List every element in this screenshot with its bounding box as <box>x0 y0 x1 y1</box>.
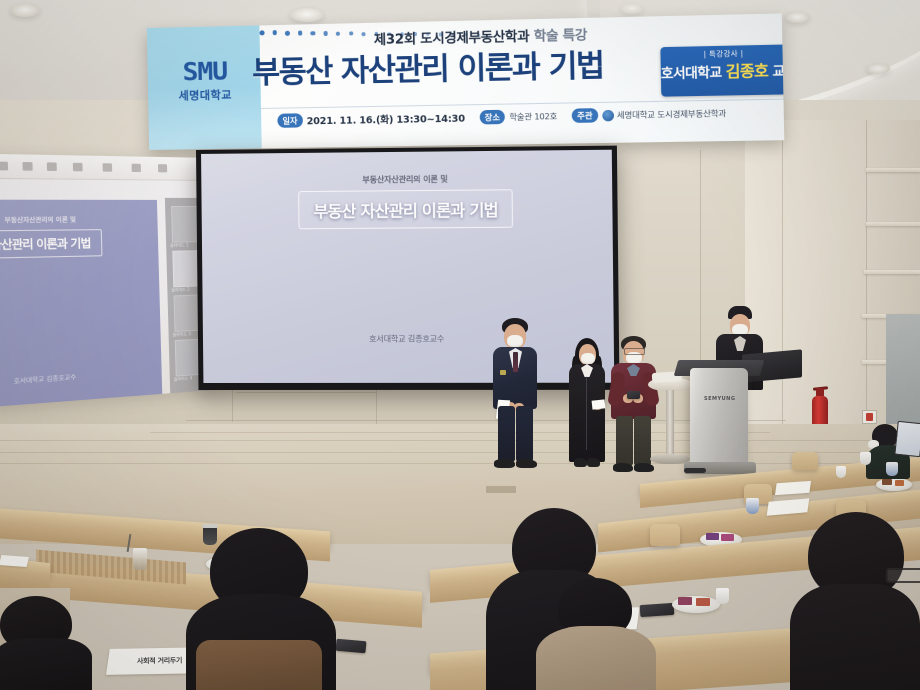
fire-sign-glyph <box>866 413 873 421</box>
presenter-slide-kicker: 부동산자산관리의 이론 및 <box>0 214 158 225</box>
slide-thumbnail-label: 슬라이드 1 <box>170 242 188 248</box>
paper-cup-blue <box>746 498 759 514</box>
tablet-device <box>894 421 920 458</box>
wall-panel-seam <box>236 392 376 393</box>
podium-cable <box>684 468 706 473</box>
iced-coffee-cup <box>133 548 147 570</box>
toolbar-icon <box>47 162 57 171</box>
ceiling-downlight <box>290 8 324 22</box>
handout-paper <box>775 481 811 495</box>
held-paper <box>592 399 606 409</box>
banner-dot <box>323 31 328 36</box>
presenter-current-slide: 부동산자산관리의 이론 및 자산관리 이론과 기법 호서대학교 김종호교수 <box>0 200 162 408</box>
slide-thumbnail-label: 슬라이드 4 <box>174 375 192 382</box>
banner-dot <box>298 31 303 36</box>
long-black-coat <box>569 364 605 462</box>
face-mask <box>507 335 523 347</box>
slide-title-box: 부동산 자산관리 이론과 기법 <box>298 189 513 229</box>
toolbar-icon <box>158 164 167 172</box>
social-distancing-sign-text: 사회적 거리두기 <box>137 656 182 667</box>
banner-dot <box>361 32 365 36</box>
event-banner: SMU 세명대학교 제32회 도시경제부동산학과 학술 특강 부동산 자산관리 … <box>147 13 784 150</box>
host-emblem-icon <box>602 109 614 121</box>
trouser-leg <box>616 416 633 466</box>
person-man-navy-suit <box>488 318 544 470</box>
audience-chair-back-foreground <box>196 640 322 690</box>
cocktail-stool <box>648 378 692 474</box>
slide-title: 부동산 자산관리 이론과 기법 <box>313 196 498 222</box>
presenter-slide-footer: 호서대학교 김종호교수 <box>0 366 162 392</box>
paper-cup <box>716 588 729 604</box>
floor-plank <box>0 463 920 464</box>
eyeglasses <box>624 348 645 355</box>
paper-cup-blue <box>886 462 898 476</box>
audience-person-front-right <box>790 512 920 690</box>
speaker-badge: | 특강강사 | 호서대학교 김종호 교수 <box>660 44 784 96</box>
shoe <box>574 458 587 467</box>
banner-logo-panel: SMU 세명대학교 <box>147 25 262 150</box>
torso-back <box>0 638 92 690</box>
smu-logo-mark: SMU <box>159 56 250 87</box>
chair-back <box>792 452 818 470</box>
ceiling-downlight <box>866 64 890 74</box>
shoe <box>613 463 633 472</box>
ceiling-downlight <box>10 4 40 17</box>
banner-dot <box>349 32 353 36</box>
audience-person-tan-coat <box>536 578 656 690</box>
fire-equipment-sign <box>862 410 877 424</box>
host-value: 세명대학교 도시경제부동산학과 <box>617 107 726 120</box>
toolbar-icon <box>132 164 141 172</box>
speaker-badge-name: 호서대학교 김종호 교수 <box>661 59 785 83</box>
toolbar-icon <box>22 162 32 171</box>
shoe <box>516 459 537 468</box>
smu-logo-korean: 세명대학교 <box>158 86 253 104</box>
necktie <box>513 352 518 372</box>
lectern-podium <box>690 368 748 474</box>
snack-item <box>678 597 692 605</box>
smartphone <box>336 639 367 654</box>
banner-title: 부동산 자산관리 이론과 기법 <box>252 39 668 92</box>
snack-item <box>696 598 710 606</box>
wall-panel-seam <box>782 132 783 432</box>
coat-seam <box>586 376 587 450</box>
presenter-slide-title: 자산관리 이론과 기법 <box>0 234 91 253</box>
photo-scene: SMU 세명대학교 제32회 도시경제부동산학과 학술 특강 부동산 자산관리 … <box>0 0 920 690</box>
shoe <box>587 458 600 467</box>
projection-screen-frame: 부동산자산관리의 이론 및 부동산 자산관리 이론과 기법 호서대학교 김종호교… <box>196 146 620 390</box>
right-wall-ledge <box>866 222 920 226</box>
speaker-title: 교수 <box>772 64 784 80</box>
slide-footer: 호서대학교 김종호교수 <box>203 333 614 345</box>
slide-thumbnail-label: 슬라이드 2 <box>171 287 189 294</box>
held-phone <box>627 391 640 399</box>
ceiling-downlight <box>620 4 644 14</box>
person-woman-black-coat <box>565 338 609 470</box>
chair-back <box>650 524 680 546</box>
right-wall-ledge <box>864 270 920 274</box>
banner-dot <box>285 31 290 36</box>
banner-dot <box>336 31 340 35</box>
face-mask <box>581 353 595 364</box>
snack-item <box>706 533 719 540</box>
ceiling-downlight <box>784 12 810 23</box>
speaker-name: 김종호 <box>725 61 768 80</box>
slide-thumbnail-label: 슬라이드 3 <box>173 331 191 338</box>
toolbar-icon <box>73 163 83 172</box>
place-chip: 장소 <box>479 110 505 125</box>
floor-plank <box>0 452 920 453</box>
host-chip: 주관 <box>572 108 598 123</box>
snack-item <box>895 480 904 486</box>
torso-back <box>536 626 656 690</box>
stool-post <box>666 390 674 456</box>
snack-item <box>882 479 892 485</box>
toolbar-icon <box>103 163 113 171</box>
slide-kicker: 부동산자산관리의 이론 및 <box>201 172 612 187</box>
snack-item <box>721 534 734 541</box>
presenter-toolbar <box>0 154 210 181</box>
paper-cup <box>836 466 846 478</box>
podium-logo: SEMYUNG <box>704 396 735 402</box>
presenter-slide-title-box: 자산관리 이론과 기법 <box>0 229 103 259</box>
banner-dot <box>310 31 315 36</box>
banner-dot <box>272 30 277 35</box>
projection-screen-surface: 부동산자산관리의 이론 및 부동산 자산관리 이론과 기법 호서대학교 김종호교… <box>201 150 614 383</box>
paper-cup <box>860 452 871 465</box>
trouser-leg <box>516 406 533 462</box>
banner-meta-row: 일자2021. 11. 16.(화) 13:30~14:30장소학술관 102호… <box>277 105 784 140</box>
shoe <box>494 459 515 468</box>
lapel-badge <box>500 370 506 375</box>
floor-plank <box>0 440 920 441</box>
date-chip: 일자 <box>277 113 302 128</box>
speaker-affiliation: 호서대학교 <box>661 66 722 83</box>
date-value: 2021. 11. 16.(화) 13:30~14:30 <box>307 110 465 127</box>
right-wall-ledge <box>866 168 920 172</box>
banner-dot <box>259 30 264 35</box>
trouser-leg <box>498 406 515 462</box>
secondary-projection-presenter-view: 부동산자산관리의 이론 및 자산관리 이론과 기법 호서대학교 김종호교수 슬라… <box>0 154 215 408</box>
eyeglasses <box>886 568 920 583</box>
audience-person-bottom-left <box>0 596 92 690</box>
place-value: 학술관 102호 <box>509 110 557 122</box>
torso-back <box>790 584 920 690</box>
handout-paper <box>0 555 29 567</box>
floor-vent <box>486 486 516 493</box>
toolbar-icon <box>0 162 8 171</box>
